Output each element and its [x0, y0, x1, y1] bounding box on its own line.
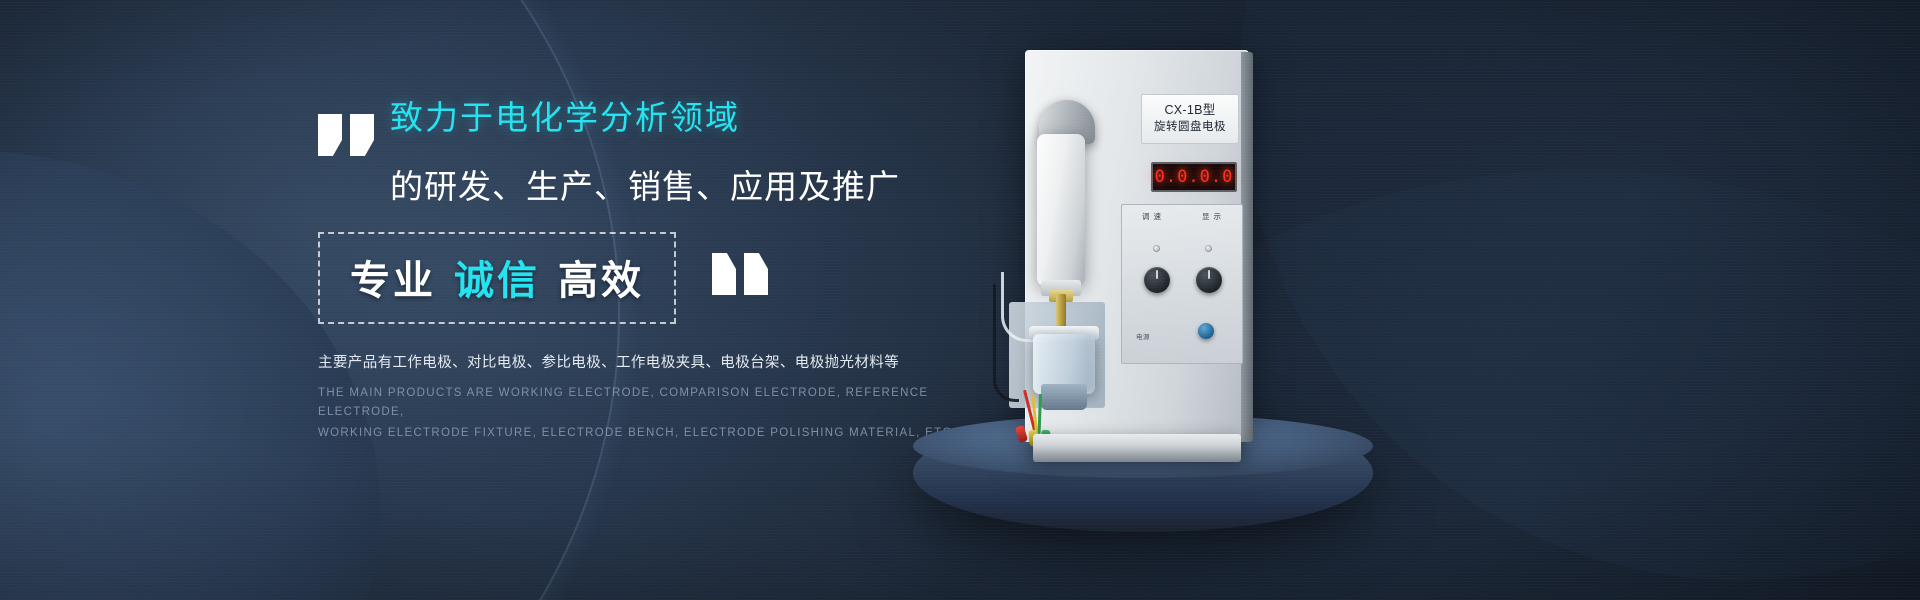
hero-banner: 致力于电化学分析领域 的研发、生产、销售、应用及推广 专业 诚信 高效 主要产品… [0, 0, 1920, 600]
screw-right [1205, 245, 1212, 252]
control-panel-labels: 调 速 显 示 [1122, 211, 1242, 222]
model-label-line-1: CX-1B型 [1164, 102, 1215, 119]
products-summary-en-line-1: THE MAIN PRODUCTS ARE WORKING ELECTRODE,… [318, 384, 958, 422]
headline-row: 致力于电化学分析领域 [318, 96, 958, 158]
control-label-left: 调 速 [1142, 211, 1162, 222]
slogan-part-1: 专业 [350, 248, 436, 306]
instrument-base-front [1033, 452, 1241, 462]
model-label-line-2: 旋转圆盘电极 [1154, 119, 1226, 136]
slogan-box: 专业 诚信 高效 [318, 232, 676, 324]
control-label-right: 显 示 [1202, 211, 1222, 222]
led-display: 0.0.0.0 [1151, 162, 1237, 192]
slogan-row: 专业 诚信 高效 [318, 232, 958, 324]
quote-close-wrapper [712, 253, 768, 297]
quote-close-icon [712, 253, 768, 297]
products-summary-cn: 主要产品有工作电极、对比电极、参比电极、工作电极夹具、电极台架、电极抛光材料等 [318, 352, 958, 374]
product-photo: CX-1B型 旋转圆盘电极 0.0.0.0 调 速 显 示 电源 [905, 22, 1425, 522]
motor-body [1037, 134, 1085, 286]
control-panel: 调 速 显 示 电源 [1121, 204, 1243, 364]
slogan-part-2: 诚信 [454, 248, 540, 306]
power-button[interactable] [1198, 323, 1214, 339]
headline-line-1: 致力于电化学分析领域 [390, 96, 740, 140]
power-label: 电源 [1136, 331, 1150, 341]
banner-copy: 致力于电化学分析领域 的研发、生产、销售、应用及推广 专业 诚信 高效 主要产品… [318, 96, 958, 443]
led-display-value: 0.0.0.0 [1155, 167, 1234, 187]
headline-line-2: 的研发、生产、销售、应用及推广 [390, 164, 958, 210]
slogan-part-3: 高效 [558, 248, 644, 306]
display-knob[interactable] [1196, 267, 1222, 293]
quote-open-icon [318, 114, 374, 158]
products-summary-en-line-2: WORKING ELECTRODE FIXTURE, ELECTRODE BEN… [318, 424, 958, 443]
model-label-plate: CX-1B型 旋转圆盘电极 [1141, 94, 1239, 144]
screw-left [1153, 245, 1160, 252]
speed-knob[interactable] [1144, 267, 1170, 293]
cell-base [1041, 384, 1087, 410]
